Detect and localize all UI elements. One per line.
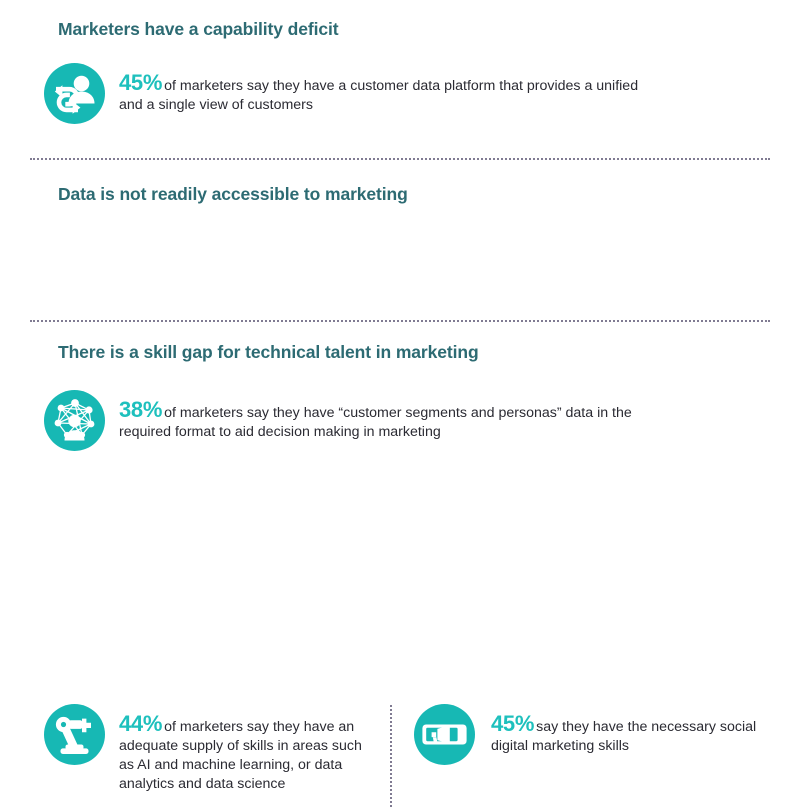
section-heading: Marketers have a capability deficit: [58, 19, 339, 40]
customer-exchange-icon: [44, 63, 105, 124]
section-heading: There is a skill gap for technical talen…: [58, 342, 479, 363]
stat-percent: 45%: [491, 711, 534, 736]
section-capability-deficit: Marketers have a capability deficit 45%o…: [0, 0, 800, 158]
mobile-megaphone-icon: [414, 704, 475, 765]
robot-arm-icon: [44, 704, 105, 765]
stat-text: 44%of marketers say they have an adequat…: [119, 704, 374, 794]
infographic-page: Marketers have a capability deficit 45%o…: [0, 0, 800, 497]
stat-item: 45%of marketers say they have a customer…: [44, 63, 644, 124]
section-divider: [30, 320, 770, 322]
section-divider: [30, 158, 770, 160]
stat-description: of marketers say they have a customer da…: [119, 78, 638, 113]
column-divider: [390, 705, 392, 807]
section-data-accessibility: Data is not readily accessible to market…: [0, 158, 800, 320]
stat-percent: 44%: [119, 711, 162, 736]
stat-percent: 45%: [119, 70, 162, 95]
stat-item: 44%of marketers say they have an adequat…: [44, 704, 374, 794]
section-heading: Data is not readily accessible to market…: [58, 184, 408, 205]
stat-text: 45%say they have the necessary social di…: [491, 704, 774, 756]
stat-text: 45%of marketers say they have a customer…: [119, 63, 644, 115]
stat-item: 45%say they have the necessary social di…: [414, 704, 774, 765]
section-skill-gap: There is a skill gap for technical talen…: [0, 320, 800, 497]
